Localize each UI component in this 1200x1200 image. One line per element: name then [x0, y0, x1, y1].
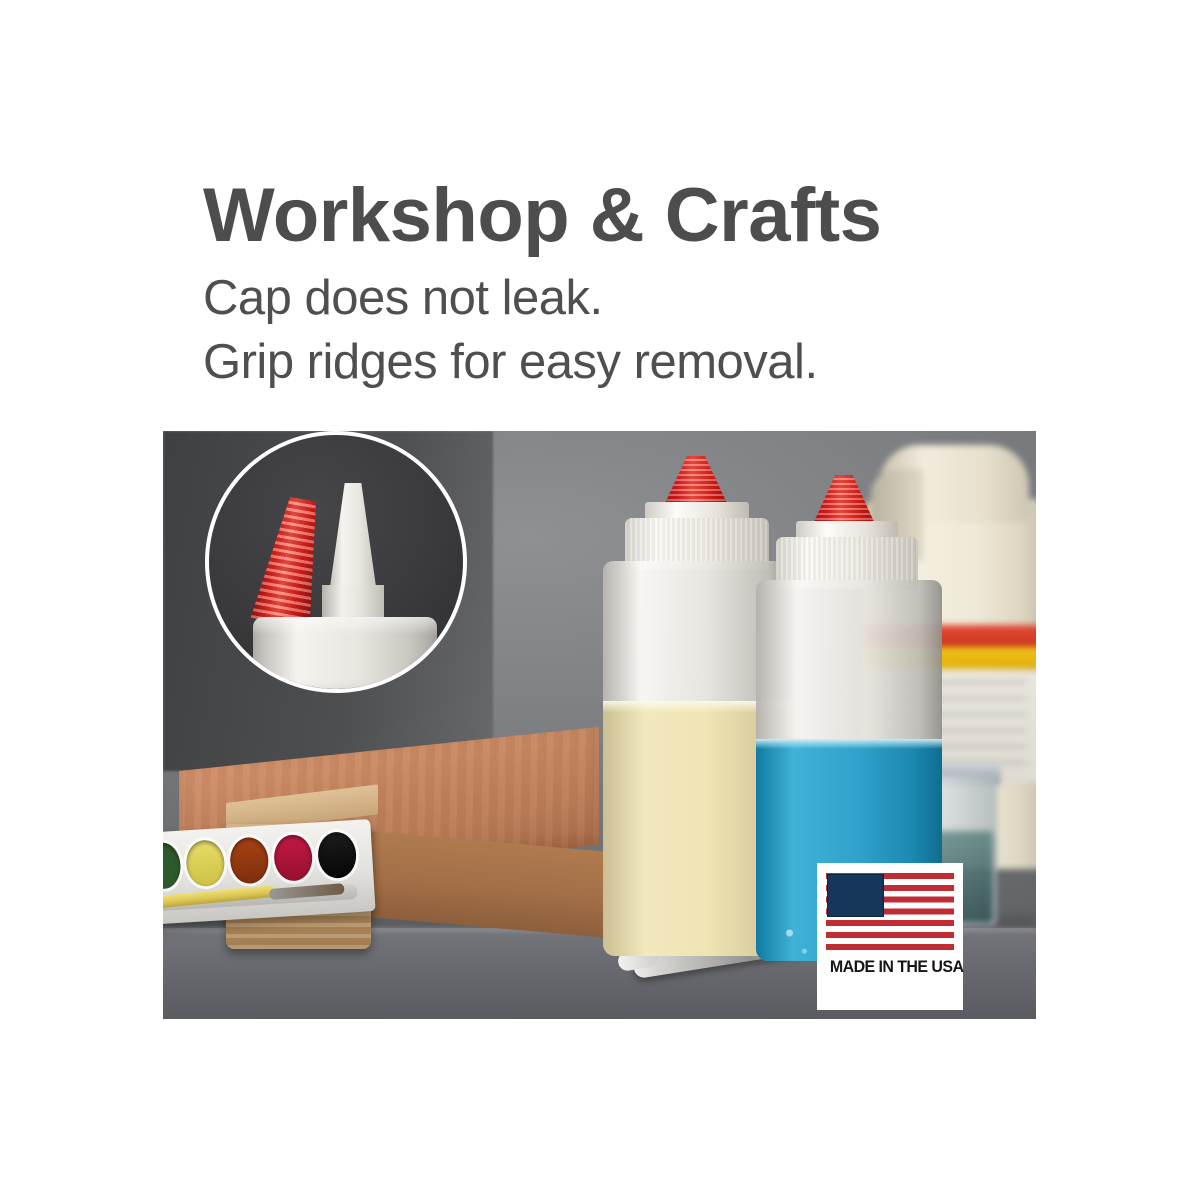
product-photo: MADE IN THE USA — [163, 431, 1036, 1019]
page-title: Workshop & Crafts — [203, 176, 1083, 256]
paint-pan-crimson — [273, 834, 314, 882]
subtitle-line-1: Cap does not leak. — [203, 266, 1083, 330]
paint-pan-black — [317, 831, 358, 879]
cap-detail-closeup — [205, 431, 467, 693]
heading-block: Workshop & Crafts Cap does not leak. Gri… — [203, 176, 1083, 394]
closeup-cap-base — [253, 617, 437, 693]
subtitle-line-2: Grip ridges for easy removal. — [203, 330, 1083, 394]
made-in-usa-label: MADE IN THE USA — [830, 957, 950, 977]
paint-pan-orange — [229, 836, 270, 884]
watercolor-palette — [163, 819, 376, 925]
paint-pan-yellow — [185, 839, 226, 887]
closeup-red-ribbed-tip — [251, 494, 332, 629]
flag-canton — [827, 874, 884, 917]
poster-canvas: Workshop & Crafts Cap does not leak. Gri… — [0, 0, 1200, 1200]
paint-pan-green — [163, 842, 182, 890]
made-in-usa-badge: MADE IN THE USA — [817, 863, 963, 1010]
us-flag-icon — [826, 873, 954, 950]
